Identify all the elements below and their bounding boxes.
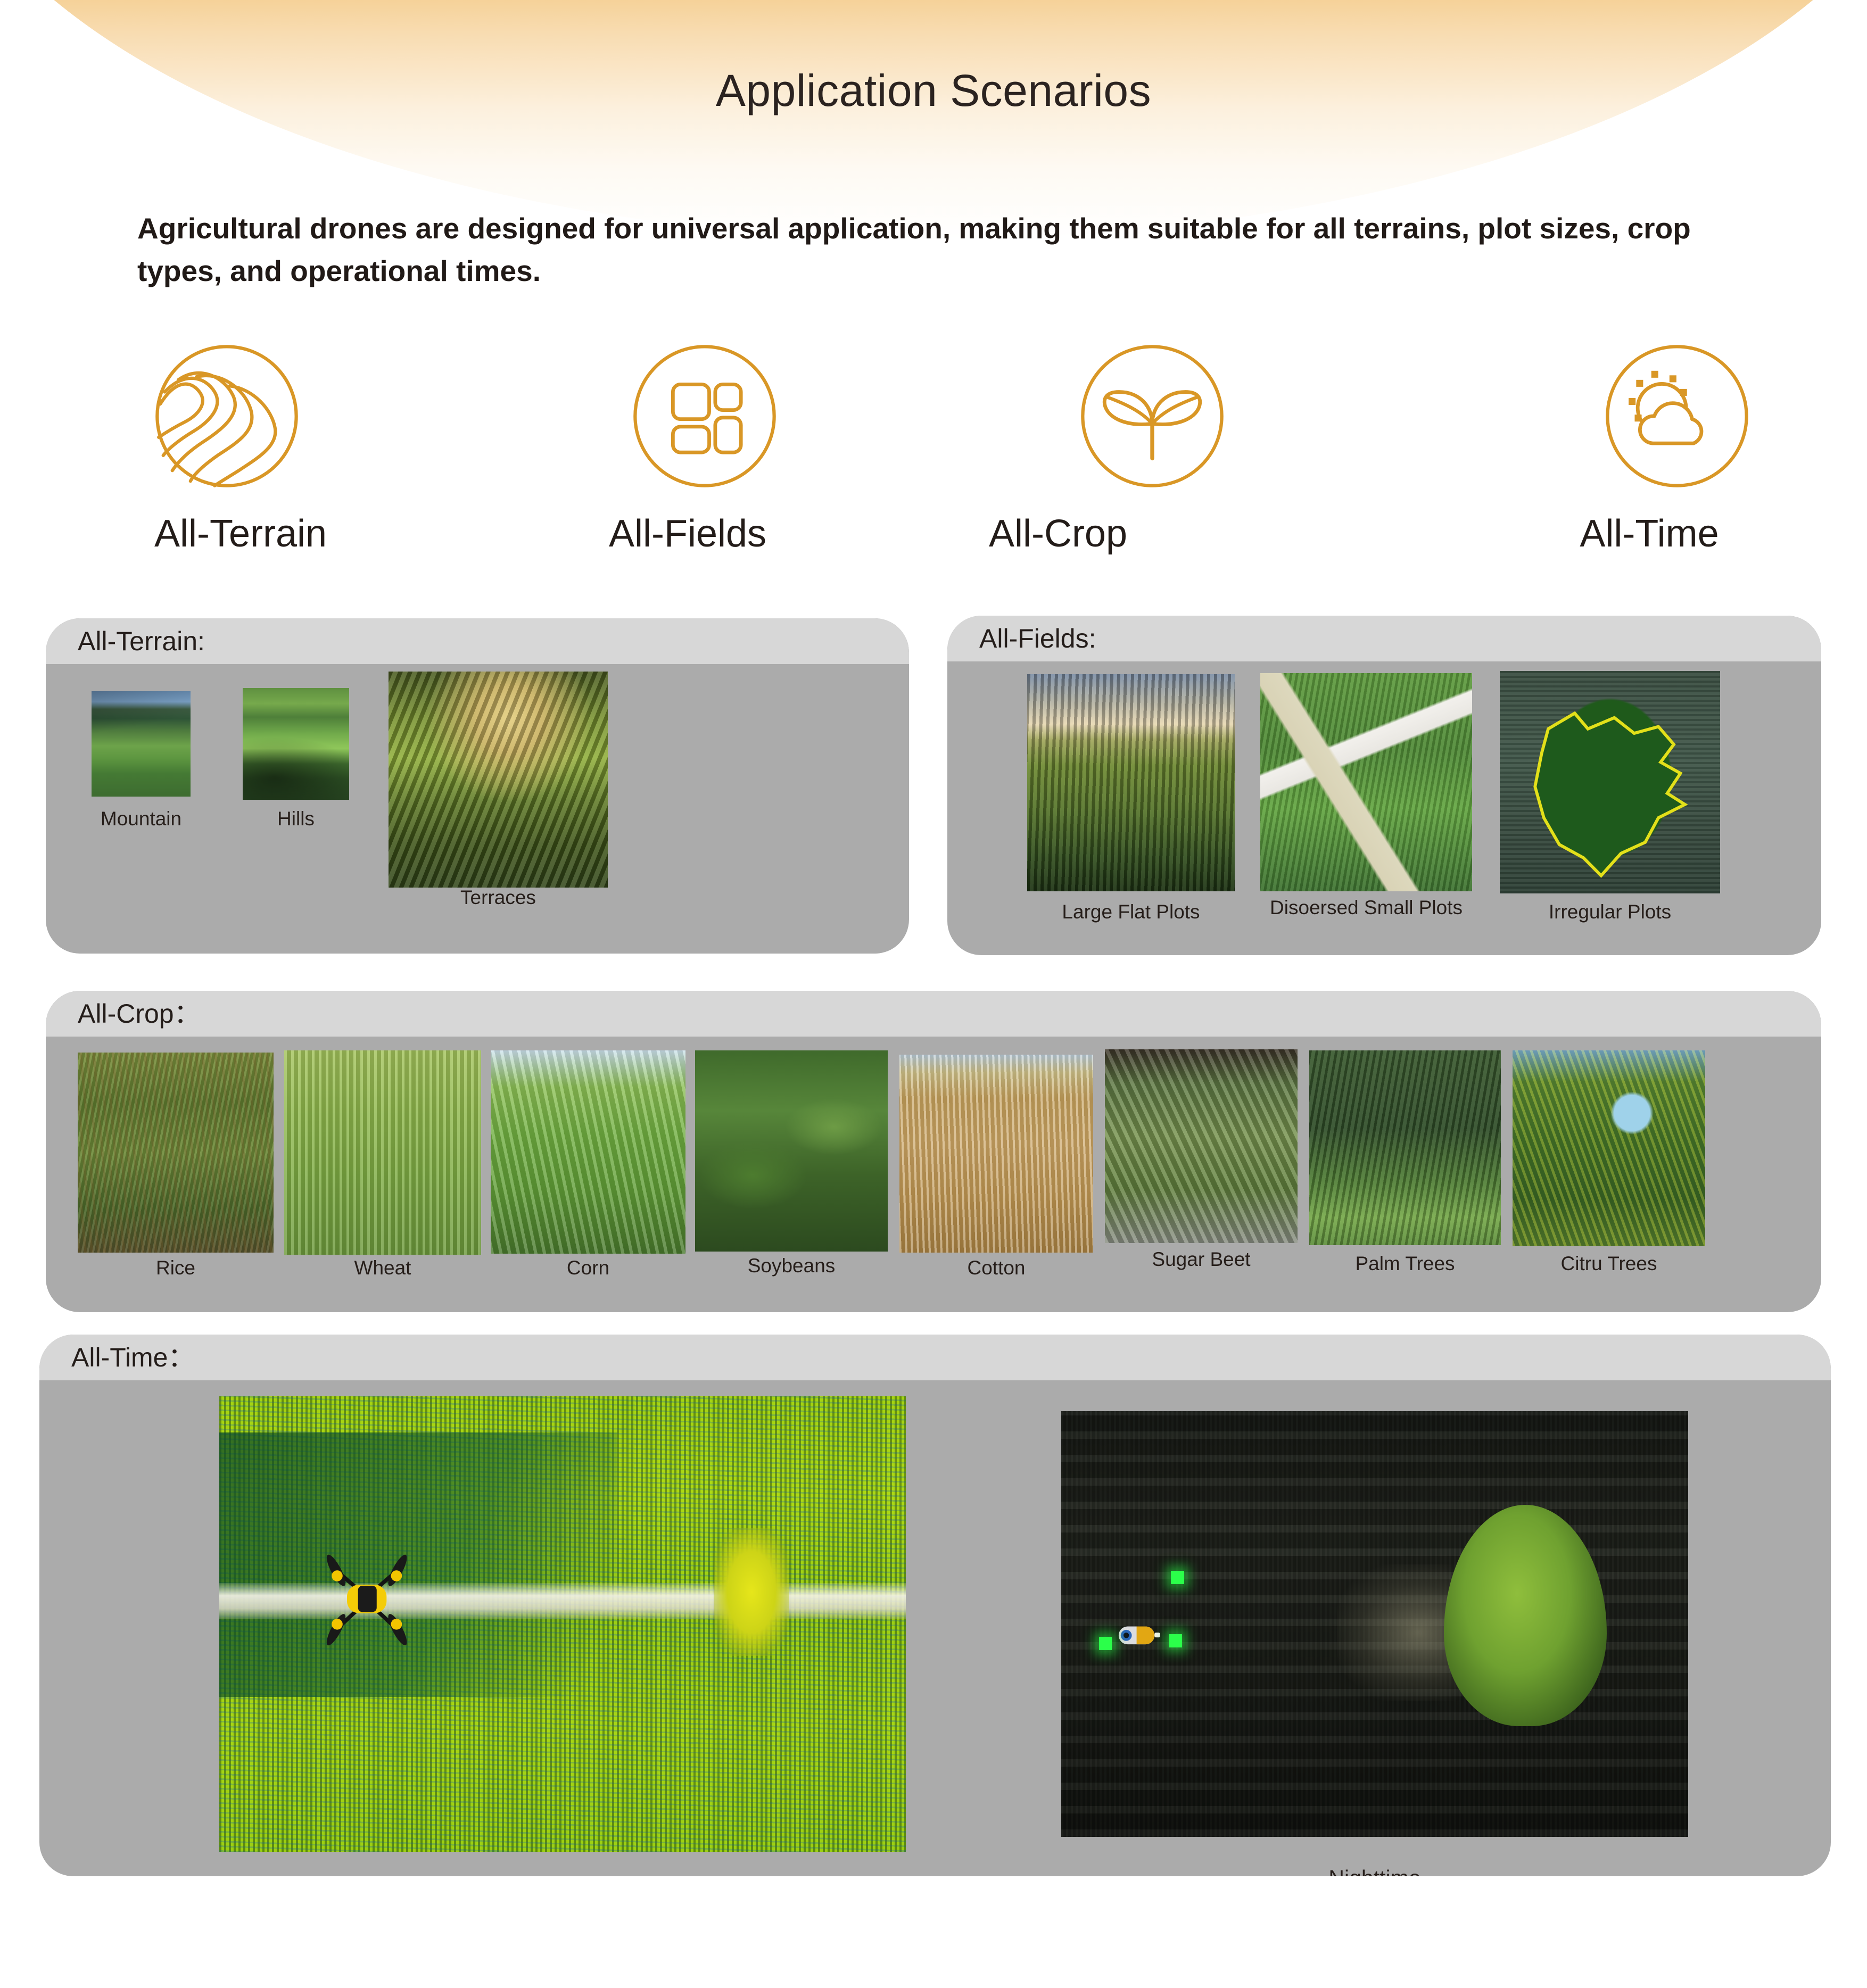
thumb-citrus-trees[interactable]: Citru Trees	[1513, 1037, 1705, 1255]
image-mountain	[92, 691, 191, 797]
image-large-flat-plots	[1027, 674, 1235, 891]
page-title: Application Scenarios	[0, 65, 1867, 117]
thumb-rice[interactable]: Rice	[78, 1037, 274, 1255]
thumb-caption: Nighttime	[1328, 1866, 1420, 1876]
panel-all-time: All-Time：	[39, 1335, 1831, 1876]
thumb-cotton[interactable]: Cotton	[899, 1037, 1093, 1255]
thumb-wheat[interactable]: Wheat	[284, 1037, 481, 1255]
thumb-irregular-plots[interactable]: Irregular Plots	[1500, 661, 1720, 893]
panel-title: All-Crop：	[78, 1000, 201, 1027]
feature-label: All-Crop	[952, 512, 1164, 556]
thumb-caption: Hills	[277, 808, 315, 830]
feature-all-terrain[interactable]: All-Terrain	[134, 341, 347, 556]
drone-nighttime-icon	[1105, 1598, 1174, 1671]
thumb-caption: Soybeans	[748, 1255, 836, 1277]
thumb-dispersed-small-plots[interactable]: Disoersed Small Plots	[1260, 661, 1472, 893]
sprout-leaves-icon	[1077, 341, 1228, 492]
feature-label: All-Time	[1543, 512, 1756, 556]
thumb-soybeans[interactable]: Soybeans	[695, 1037, 888, 1255]
thumb-caption: Rice	[156, 1257, 195, 1279]
field-shadow-band	[219, 1432, 617, 1696]
thumb-caption: Disoersed Small Plots	[1270, 897, 1463, 919]
panel-all-crop: All-Crop： Rice Wheat Corn Soybeans	[46, 991, 1821, 1312]
thumb-palm-trees[interactable]: Palm Trees	[1309, 1037, 1501, 1255]
thumb-caption: Mountain	[101, 808, 181, 830]
drone-daytime-icon	[312, 1519, 422, 1679]
image-sugar-beet	[1105, 1049, 1298, 1243]
image-daytime-drone-field	[219, 1396, 906, 1852]
image-palm-trees	[1309, 1050, 1501, 1245]
image-irregular-plots	[1500, 671, 1720, 893]
image-wheat	[284, 1050, 481, 1255]
field-path-band	[219, 1583, 906, 1619]
panel-title: All-Terrain:	[78, 628, 205, 655]
panel-header: All-Terrain:	[46, 618, 909, 664]
header-gradient-banner	[0, 0, 1867, 239]
feature-icon-row: All-Terrain All-Fields All-Crop	[0, 330, 1867, 564]
panel-all-terrain: All-Terrain: Mountain Hills Terraces	[46, 618, 909, 954]
thumb-nighttime[interactable]: Nighttime	[1061, 1380, 1688, 1852]
feature-all-crop[interactable]: All-Crop	[952, 341, 1164, 556]
image-hills	[243, 688, 349, 800]
thumb-mountain[interactable]: Mountain	[92, 664, 191, 888]
thumb-sugar-beet[interactable]: Sugar Beet	[1105, 1037, 1298, 1255]
feature-label: All-Terrain	[134, 512, 347, 556]
drone-led-top	[1171, 1571, 1184, 1584]
thumb-large-flat-plots[interactable]: Large Flat Plots	[1027, 661, 1235, 893]
light-pool	[1337, 1564, 1500, 1701]
thumb-caption: Corn	[567, 1257, 609, 1279]
thumb-caption: Cotton	[967, 1257, 1025, 1279]
feature-label: All-Fields	[581, 512, 794, 556]
drone-led-right	[1169, 1634, 1183, 1647]
panel-all-fields: All-Fields: Large Flat Plots Disoersed S…	[947, 616, 1821, 955]
thumb-corn[interactable]: Corn	[491, 1037, 685, 1255]
image-rice	[78, 1053, 274, 1253]
thumb-caption: Large Flat Plots	[1062, 901, 1200, 923]
thumb-caption: Irregular Plots	[1549, 901, 1671, 923]
feature-all-time[interactable]: All-Time	[1543, 341, 1756, 556]
image-corn	[491, 1050, 685, 1254]
terrain-contours-icon	[151, 341, 302, 492]
image-citrus-trees	[1513, 1050, 1705, 1246]
image-terraces	[389, 672, 608, 888]
thumb-caption: Terraces	[460, 887, 536, 909]
sun-cloud-icon	[1601, 341, 1753, 492]
intro-paragraph: Agricultural drones are designed for uni…	[137, 208, 1766, 293]
plot-boundary-overlay	[1500, 671, 1720, 893]
yellow-shrub	[714, 1528, 789, 1656]
illuminated-tree	[1444, 1505, 1607, 1726]
feature-all-fields[interactable]: All-Fields	[581, 341, 794, 556]
thumb-hills[interactable]: Hills	[243, 664, 349, 888]
image-soybeans	[695, 1050, 888, 1252]
image-dispersed-small-plots	[1260, 673, 1472, 891]
panel-header: All-Time：	[39, 1335, 1831, 1380]
image-nighttime-drone-field	[1061, 1411, 1688, 1837]
grid-squares-icon	[629, 341, 780, 492]
thumb-terraces[interactable]: Terraces	[389, 664, 608, 888]
drone-led-left	[1099, 1637, 1112, 1650]
thumb-caption: Citru Trees	[1561, 1253, 1657, 1275]
thumb-caption: Palm Trees	[1355, 1253, 1455, 1275]
thumb-caption: Wheat	[354, 1257, 411, 1279]
panel-header: All-Crop：	[46, 991, 1821, 1037]
panel-title: All-Fields:	[979, 625, 1096, 652]
image-cotton	[899, 1055, 1093, 1253]
panel-title: All-Time：	[71, 1344, 194, 1371]
thumb-caption: Sugar Beet	[1152, 1248, 1250, 1271]
panel-header: All-Fields:	[947, 616, 1821, 661]
thumb-daytime[interactable]: Daytime	[219, 1380, 906, 1852]
